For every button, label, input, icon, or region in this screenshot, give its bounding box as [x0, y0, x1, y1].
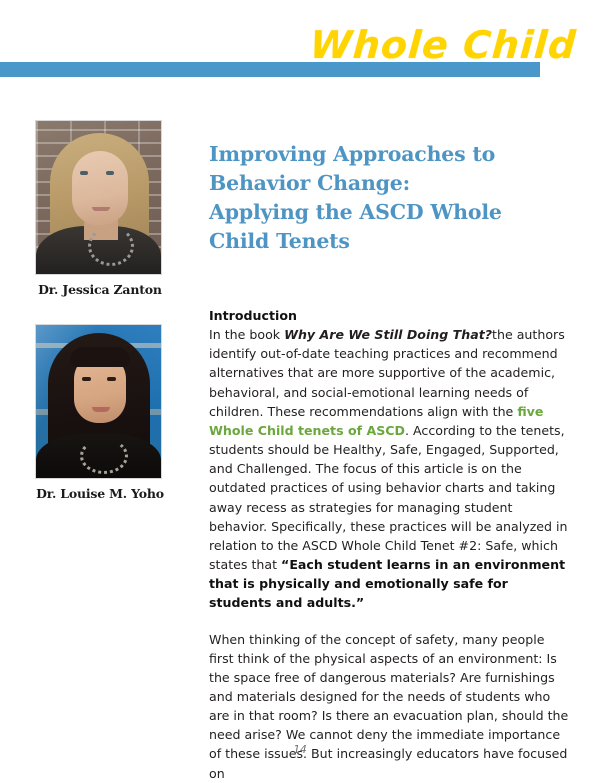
p1-segment-3: . According to the tenets, students shou…	[209, 423, 568, 572]
author-block: Dr. Louise M. Yoho	[0, 324, 200, 502]
mouth-shape	[92, 407, 110, 412]
section-heading-introduction: Introduction	[209, 308, 297, 323]
author-photo-jessica-zanton	[35, 120, 162, 275]
article-title-line-4: Child Tenets	[209, 229, 350, 253]
author-column: Dr. Jessica Zanton Dr. Louise M. Yoho	[0, 120, 200, 516]
necklace-shape	[80, 438, 128, 474]
article-title: Improving Approaches to Behavior Change:…	[209, 140, 572, 256]
p1-segment-1: In the book	[209, 327, 284, 342]
eye-left	[82, 377, 91, 381]
author-name-louise-yoho: Dr. Louise M. Yoho	[0, 479, 200, 502]
article-title-line-1: Improving Approaches to	[209, 142, 495, 166]
bangs-shape	[70, 347, 130, 367]
article-title-line-3: Applying the ASCD Whole	[209, 200, 502, 224]
masthead: Whole Child	[0, 0, 600, 95]
eye-right	[106, 171, 114, 175]
eye-left	[80, 171, 88, 175]
book-title: Why Are We Still Doing That?	[284, 327, 492, 342]
author-block: Dr. Jessica Zanton	[0, 120, 200, 298]
author-name-jessica-zanton: Dr. Jessica Zanton	[0, 275, 200, 298]
mouth-shape	[92, 207, 110, 211]
article-title-line-2: Behavior Change:	[209, 171, 410, 195]
paragraph-safety: When thinking of the concept of safety, …	[209, 630, 572, 783]
author-photo-louise-yoho	[35, 324, 162, 479]
necklace-shape	[88, 226, 134, 266]
page-number: 14	[270, 744, 330, 756]
masthead-title: Whole Child	[308, 22, 551, 70]
face-shape	[72, 151, 128, 225]
eye-right	[107, 377, 116, 381]
paragraph-intro: Introduction In the book Why Are We Stil…	[209, 306, 572, 613]
article-body: Introduction In the book Why Are We Stil…	[209, 306, 572, 783]
